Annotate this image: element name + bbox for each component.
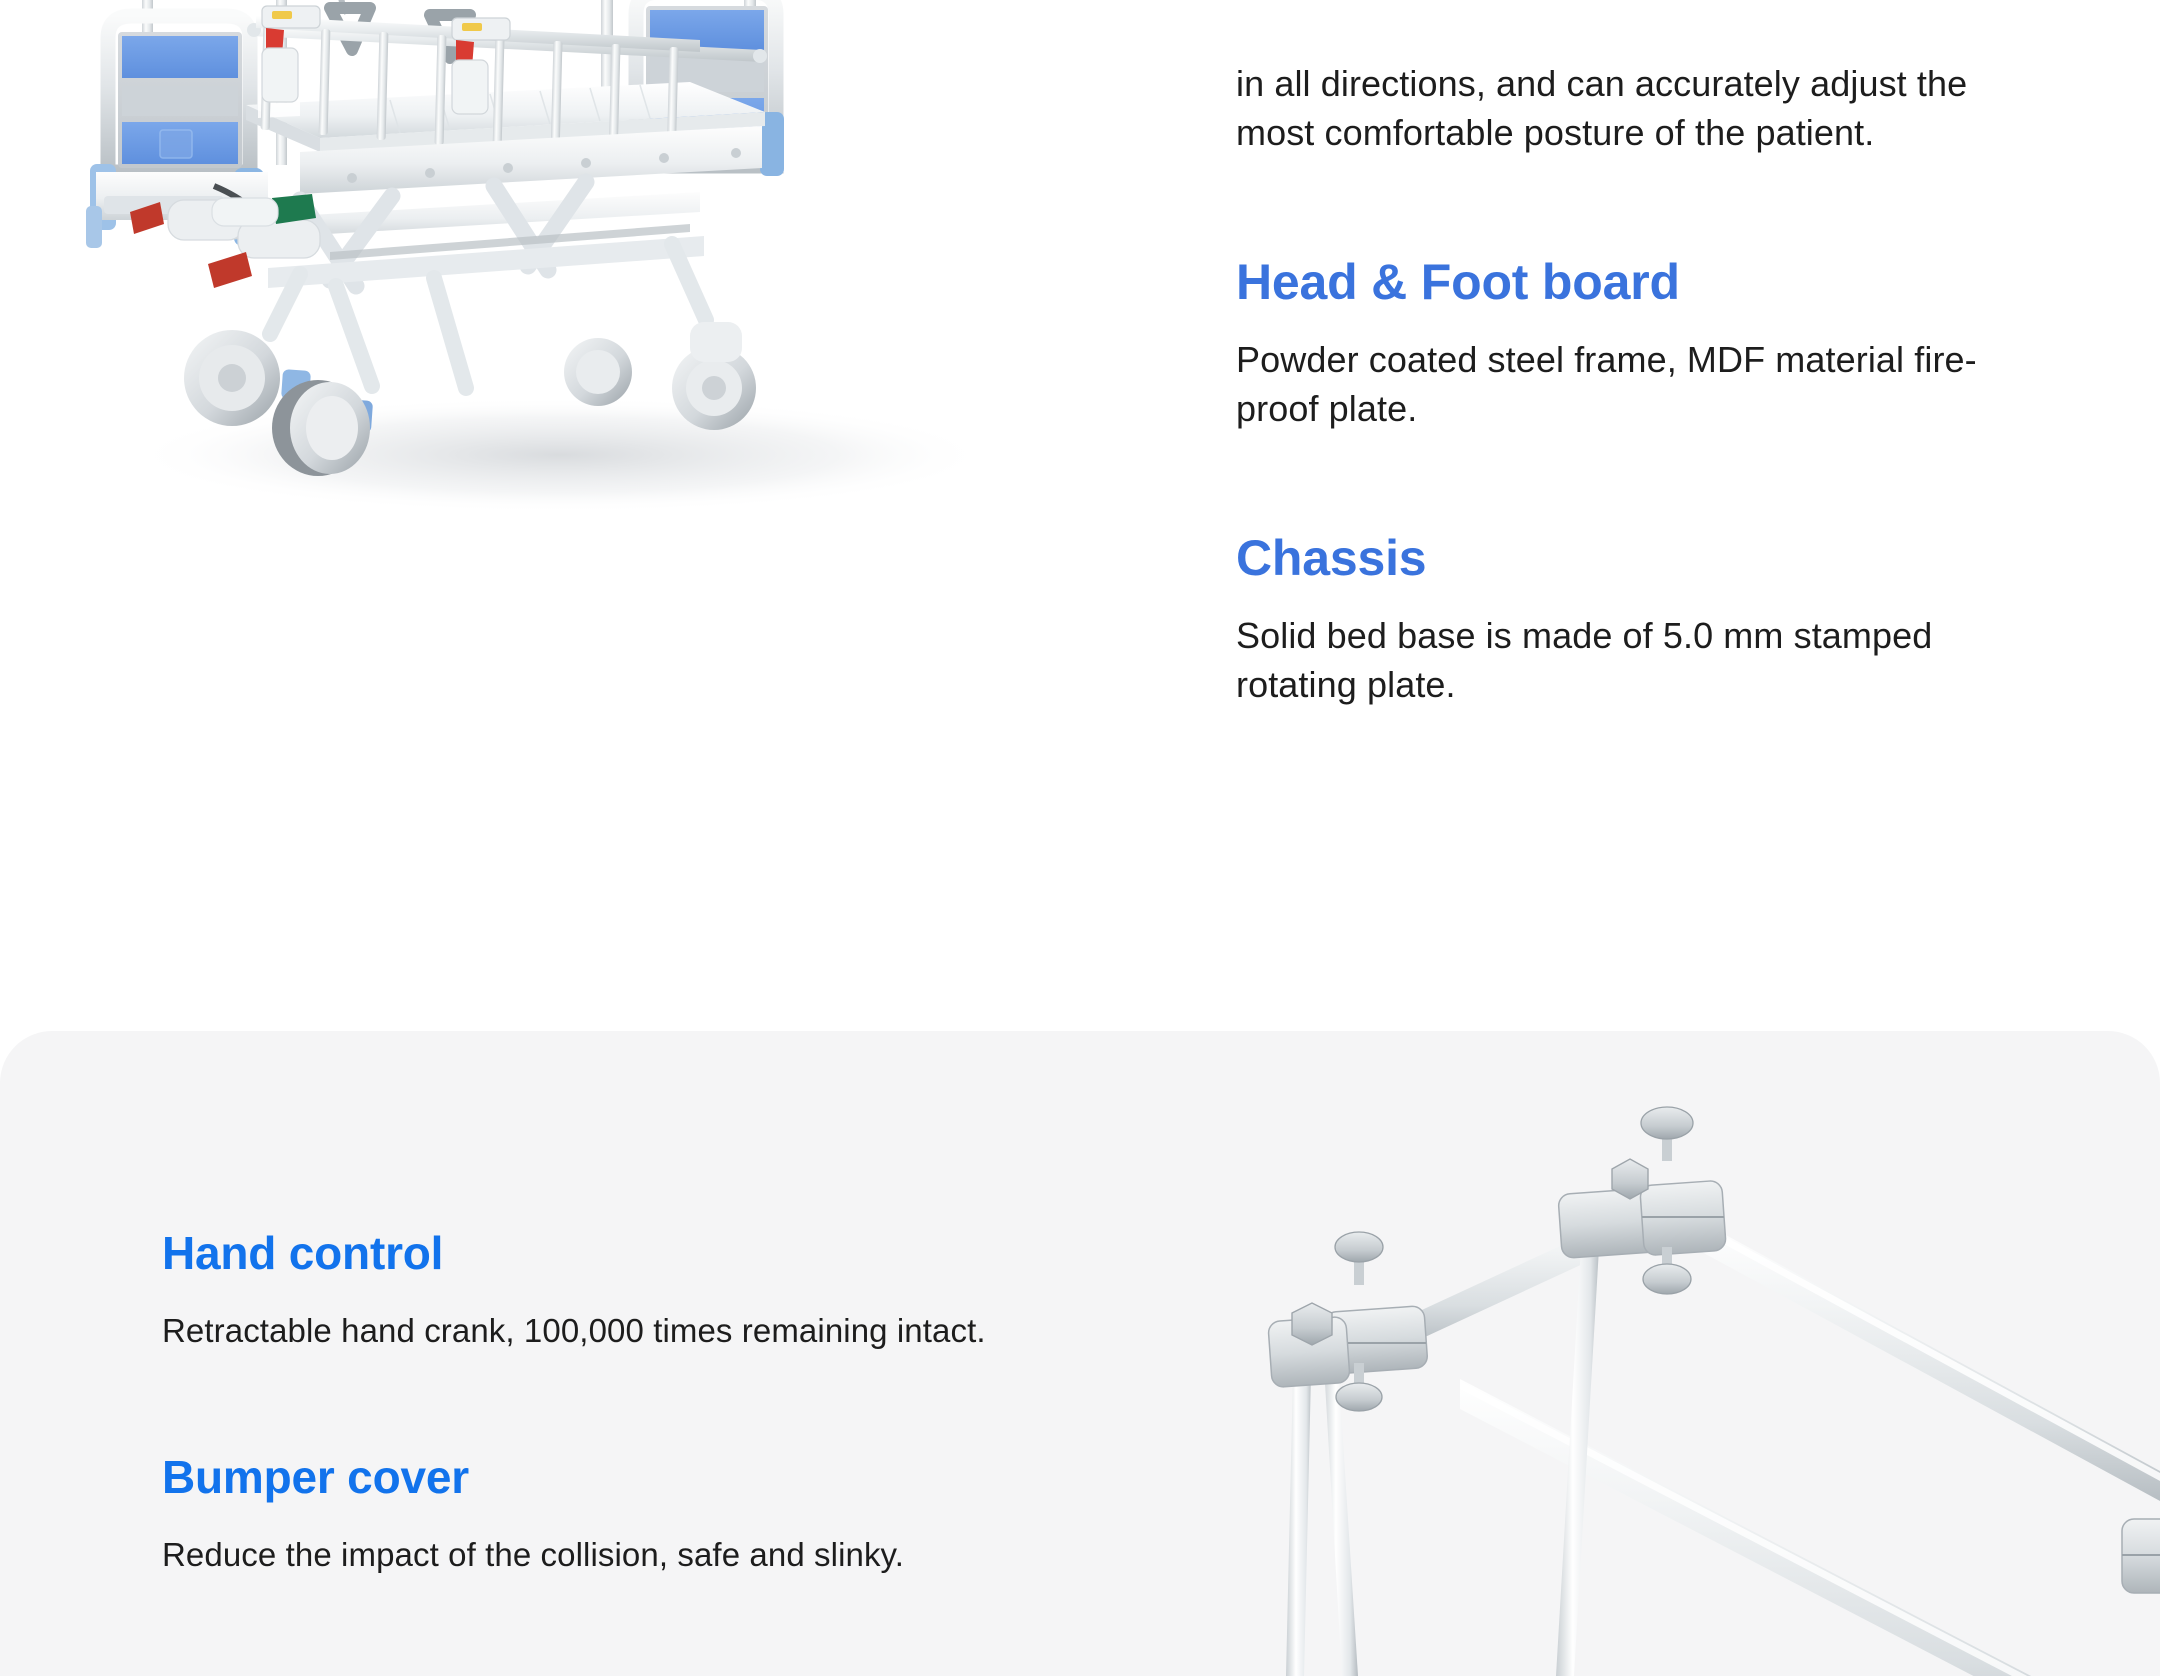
feature-heading-hand-control: Hand control: [162, 1226, 1162, 1281]
bed-overview-section: in all directions, and can accurately ad…: [0, 0, 2160, 1031]
traction-frame-photo: [1230, 1031, 2160, 1676]
feature-body-bumper-cover: Reduce the impact of the collision, safe…: [162, 1533, 1162, 1578]
spec-heading-head-foot-board: Head & Foot board: [1236, 253, 1996, 312]
feature-text-column: Hand control Retractable hand crank, 100…: [162, 1226, 1162, 1577]
feature-body-hand-control: Retractable hand crank, 100,000 times re…: [162, 1309, 1162, 1354]
features-panel-section: Hand control Retractable hand crank, 100…: [0, 1031, 2160, 1676]
spec-text-column: in all directions, and can accurately ad…: [1236, 0, 1996, 710]
spec-block-head-foot-board: Head & Foot board Powder coated steel fr…: [1236, 253, 1996, 433]
hospital-bed-photo: [0, 0, 1190, 700]
spec-body-chassis: Solid bed base is made of 5.0 mm stamped…: [1236, 612, 1996, 709]
spec-body-head-foot-board: Powder coated steel frame, MDF material …: [1236, 336, 1996, 433]
feature-heading-bumper-cover: Bumper cover: [162, 1450, 1162, 1505]
feature-block-hand-control: Hand control Retractable hand crank, 100…: [162, 1226, 1162, 1354]
feature-block-bumper-cover: Bumper cover Reduce the impact of the co…: [162, 1450, 1162, 1578]
spec-heading-chassis: Chassis: [1236, 529, 1996, 588]
spec-body-adjustment: in all directions, and can accurately ad…: [1236, 60, 1996, 157]
product-feature-page: in all directions, and can accurately ad…: [0, 0, 2160, 1676]
spec-block-adjustment: in all directions, and can accurately ad…: [1236, 60, 1996, 157]
spec-block-chassis: Chassis Solid bed base is made of 5.0 mm…: [1236, 529, 1996, 709]
